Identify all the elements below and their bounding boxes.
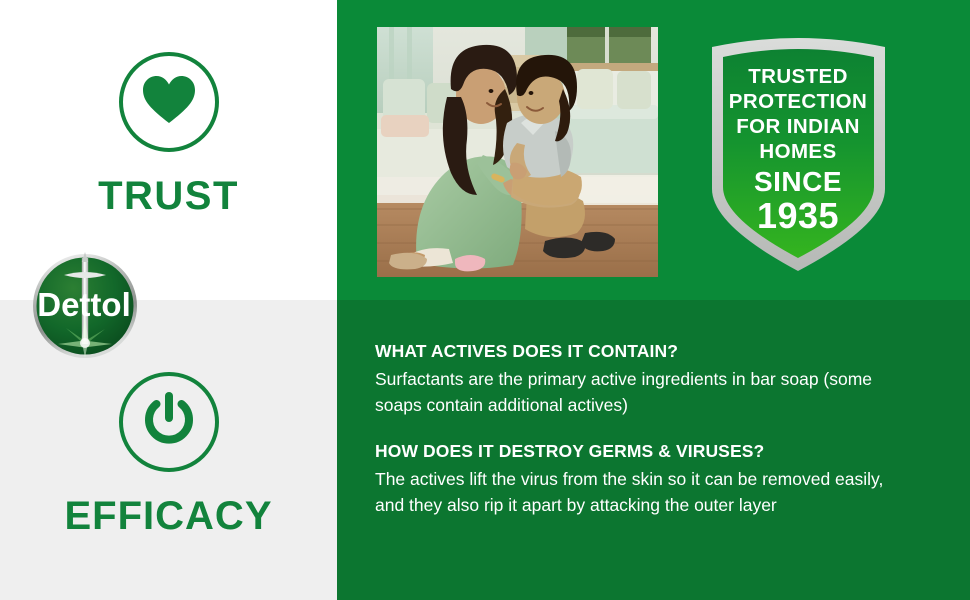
shield-line-3: FOR INDIAN	[736, 115, 860, 138]
feature-efficacy: EFFICACY	[0, 372, 337, 539]
qa-content: WHAT ACTIVES DOES IT CONTAIN? Surfactant…	[375, 340, 905, 519]
qa-block-destroy-germs: HOW DOES IT DESTROY GERMS & VIRUSES? The…	[375, 440, 905, 518]
mother-and-son-photo	[377, 27, 658, 277]
shield-line-2: PROTECTION	[729, 90, 867, 113]
qa-answer-actives: Surfactants are the primary active ingre…	[375, 367, 905, 419]
qa-answer-destroy-germs: The actives lift the virus from the skin…	[375, 467, 905, 519]
dettol-wordmark: Dettol	[37, 286, 131, 323]
shield-line-4: HOMES	[759, 140, 836, 163]
dettol-logo: Dettol	[28, 246, 142, 360]
shield-line-1: TRUSTED	[748, 65, 848, 88]
feature-efficacy-label: EFFICACY	[0, 494, 337, 539]
heart-icon	[141, 75, 197, 130]
feature-trust: TRUST	[0, 52, 337, 219]
power-icon	[142, 392, 196, 453]
qa-question-destroy-germs: HOW DOES IT DESTROY GERMS & VIRUSES?	[375, 440, 905, 464]
trusted-since-shield-badge: TRUSTED PROTECTION FOR INDIAN HOMES SINC…	[706, 29, 891, 274]
trust-icon-circle	[119, 52, 219, 152]
efficacy-icon-circle	[119, 372, 219, 472]
qa-question-actives: WHAT ACTIVES DOES IT CONTAIN?	[375, 340, 905, 364]
shield-since-year: 1935	[757, 195, 839, 236]
shield-since-label: SINCE	[754, 166, 842, 197]
dettol-infographic-banner: TRUST EFFICACY	[0, 0, 970, 600]
feature-trust-label: TRUST	[0, 174, 337, 219]
qa-block-actives: WHAT ACTIVES DOES IT CONTAIN? Surfactant…	[375, 340, 905, 418]
